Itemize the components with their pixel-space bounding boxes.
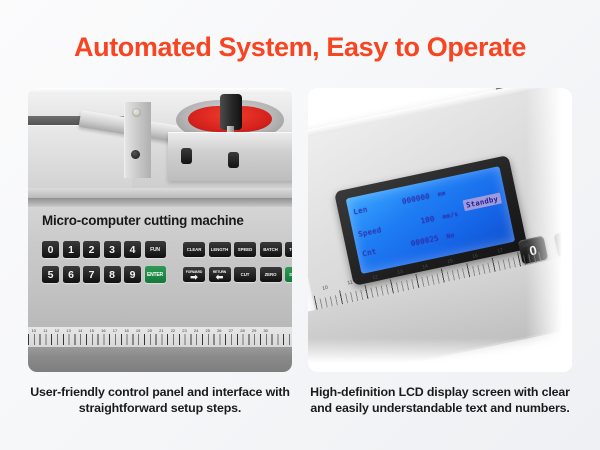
page-title: Automated System, Easy to Operate xyxy=(0,32,600,63)
lcd-label-length: Len xyxy=(353,201,384,216)
clamp-icon xyxy=(181,148,192,164)
screw-icon xyxy=(132,108,141,117)
machine-upper-body xyxy=(28,88,292,206)
bolt-icon xyxy=(131,150,140,159)
key-4[interactable]: 4 xyxy=(124,241,141,258)
measuring-ruler: 10 11 12 13 14 15 16 17 18 19 20 21 22 2… xyxy=(28,327,292,347)
key-enter[interactable]: ENTER xyxy=(145,266,166,283)
feature-cards: Micro-computer cutting machine 0 1 2 3 4… xyxy=(28,88,572,416)
arrow-left-icon: ⬅ xyxy=(216,275,223,280)
key-speed[interactable]: SPEED xyxy=(234,242,256,257)
photo-fade-right xyxy=(526,88,572,372)
lcd-label-count: Cnt xyxy=(362,243,393,258)
control-face: Micro-computer cutting machine 0 1 2 3 4… xyxy=(28,207,292,327)
key-cut[interactable]: CUT xyxy=(234,267,256,282)
lcd-label-speed: Speed xyxy=(357,224,388,239)
lcd-value-length: 000000 xyxy=(382,191,431,210)
control-panel-photo: Micro-computer cutting machine 0 1 2 3 4… xyxy=(28,88,292,372)
key-zero[interactable]: ZERO xyxy=(260,267,282,282)
lcd-unit-count: No xyxy=(446,232,455,241)
status-badge: Standby xyxy=(462,193,502,212)
key-length[interactable]: LENGTH xyxy=(209,242,231,257)
key-8[interactable]: 8 xyxy=(104,266,121,283)
keypad-row-1: 0 1 2 3 4 FUN CLEAR LENGTH SPEED BATCH T… xyxy=(42,241,292,258)
key-3[interactable]: 3 xyxy=(104,241,121,258)
card-caption: User-friendly control panel and interfac… xyxy=(28,385,292,416)
promo-banner: Automated System, Easy to Operate xyxy=(0,0,600,450)
ruler-major-ticks xyxy=(28,334,292,345)
key-2[interactable]: 2 xyxy=(83,241,100,258)
lcd-unit-speed: mm/s xyxy=(442,211,459,221)
key-6[interactable]: 6 xyxy=(63,266,80,283)
machine-left-block xyxy=(28,125,132,190)
lcd-value-count: 000025 xyxy=(391,233,440,252)
machine-shelf xyxy=(28,188,292,198)
key-fun[interactable]: FUN xyxy=(145,241,166,258)
panel-shadow xyxy=(28,198,292,207)
lcd-row-length: Len 000000 mm xyxy=(353,188,447,216)
control-panel-card: Micro-computer cutting machine 0 1 2 3 4… xyxy=(28,88,292,416)
key-forward[interactable]: FORWARD ➡ xyxy=(183,267,205,282)
machine-label: Micro-computer cutting machine xyxy=(42,213,244,228)
key-1[interactable]: 1 xyxy=(63,241,80,258)
key-batch[interactable]: BATCH xyxy=(260,242,282,257)
body-top-edge xyxy=(28,88,292,94)
key-start[interactable]: START xyxy=(285,267,292,282)
arrow-right-icon: ➡ xyxy=(190,275,197,280)
key-return[interactable]: RETURN ⬅ xyxy=(209,267,231,282)
key-7[interactable]: 7 xyxy=(83,266,100,283)
lcd-display-card: Len 000000 mm Speed 100 mm/s Cnt 000025 xyxy=(308,88,572,416)
clamp-icon xyxy=(228,152,239,168)
lcd-unit-length: mm xyxy=(437,190,446,199)
spindle xyxy=(220,94,242,130)
key-5[interactable]: 5 xyxy=(42,266,59,283)
photo-fade-bottom xyxy=(308,338,572,372)
machine-base xyxy=(28,347,292,372)
keypad-row-2: 5 6 7 8 9 ENTER FORWARD ➡ RETURN xyxy=(42,266,292,283)
key-total[interactable]: TOTAL xyxy=(285,242,292,257)
key-9[interactable]: 9 xyxy=(124,266,141,283)
card-caption: High-definition LCD display screen with … xyxy=(308,385,572,416)
key-0[interactable]: 0 xyxy=(42,241,59,258)
lcd-display-photo: Len 000000 mm Speed 100 mm/s Cnt 000025 xyxy=(308,88,572,372)
lcd-value-speed: 100 xyxy=(387,214,436,233)
key-clear[interactable]: CLEAR xyxy=(183,242,205,257)
